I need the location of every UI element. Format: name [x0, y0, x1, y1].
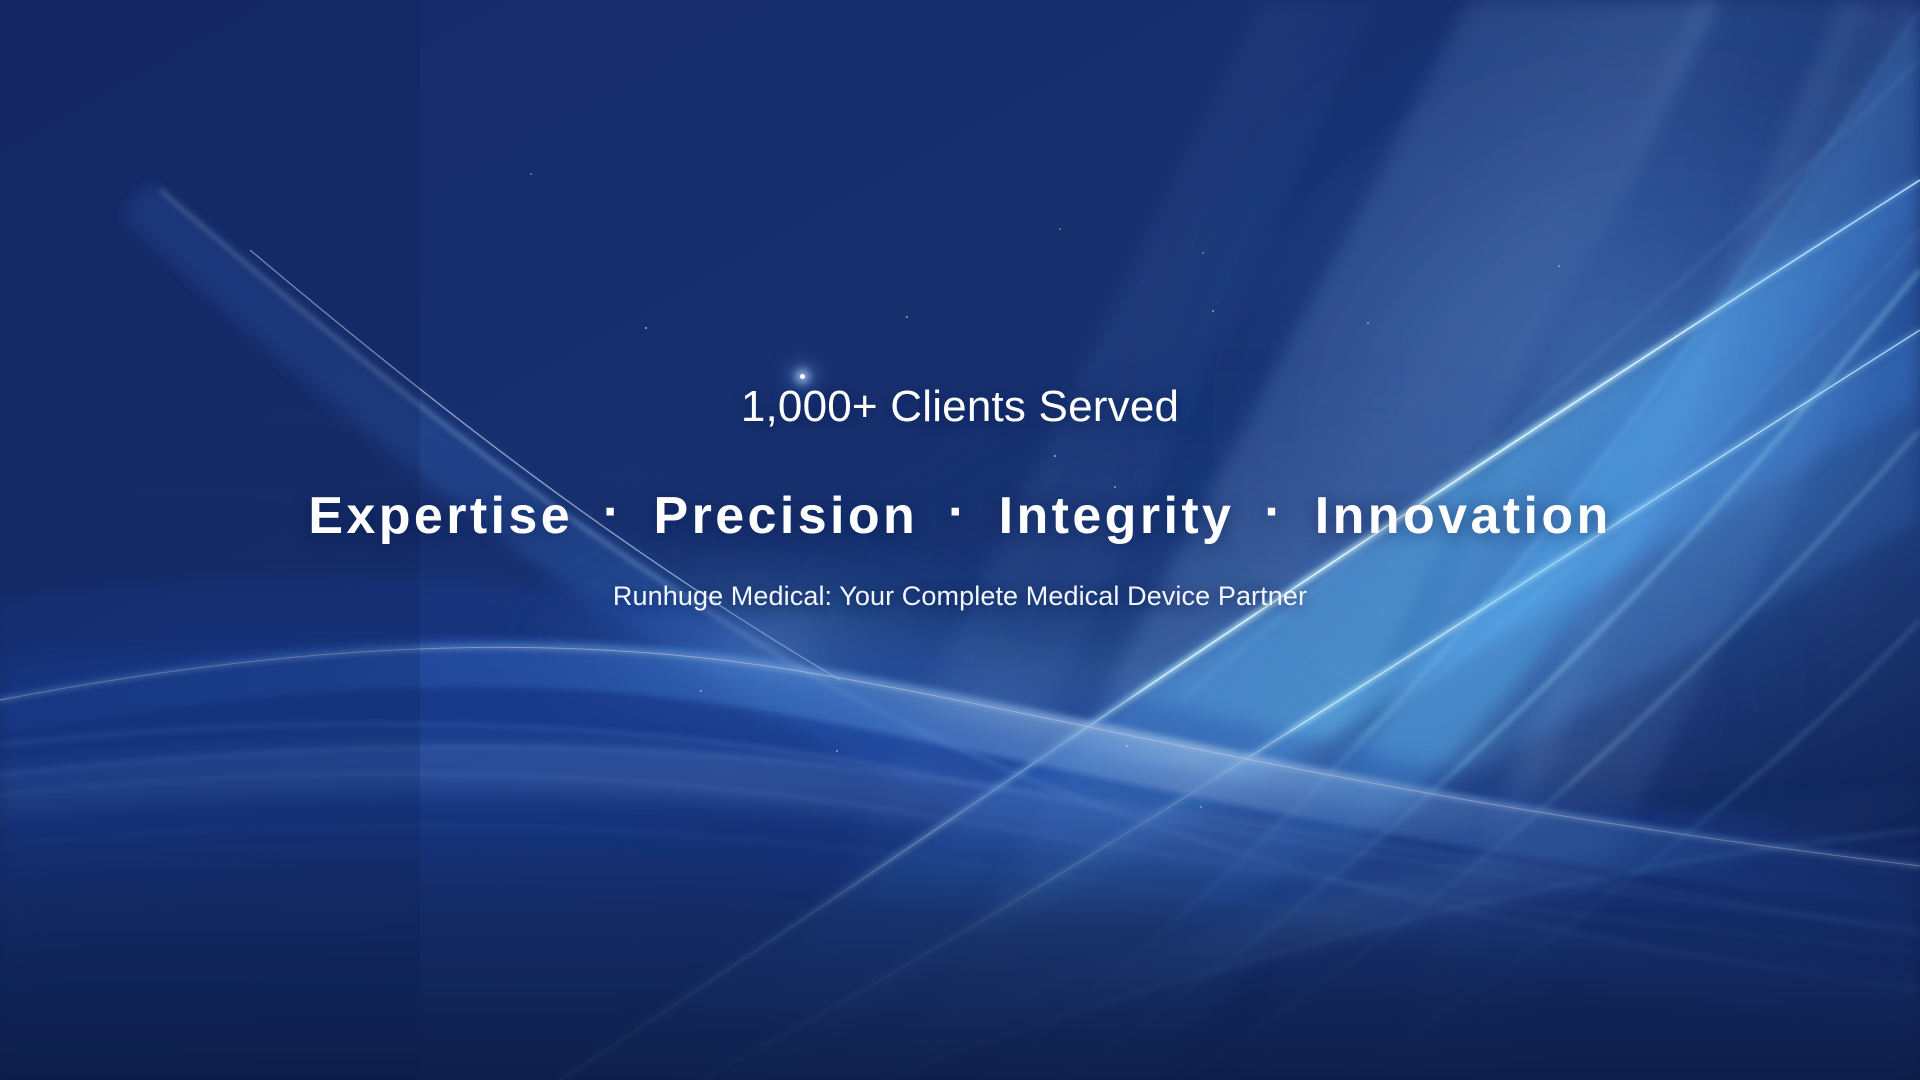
hero-banner: 1,000+ Clients Served Expertise · Precis…	[0, 0, 1920, 1080]
abstract-light-waves-background	[0, 0, 1920, 1080]
